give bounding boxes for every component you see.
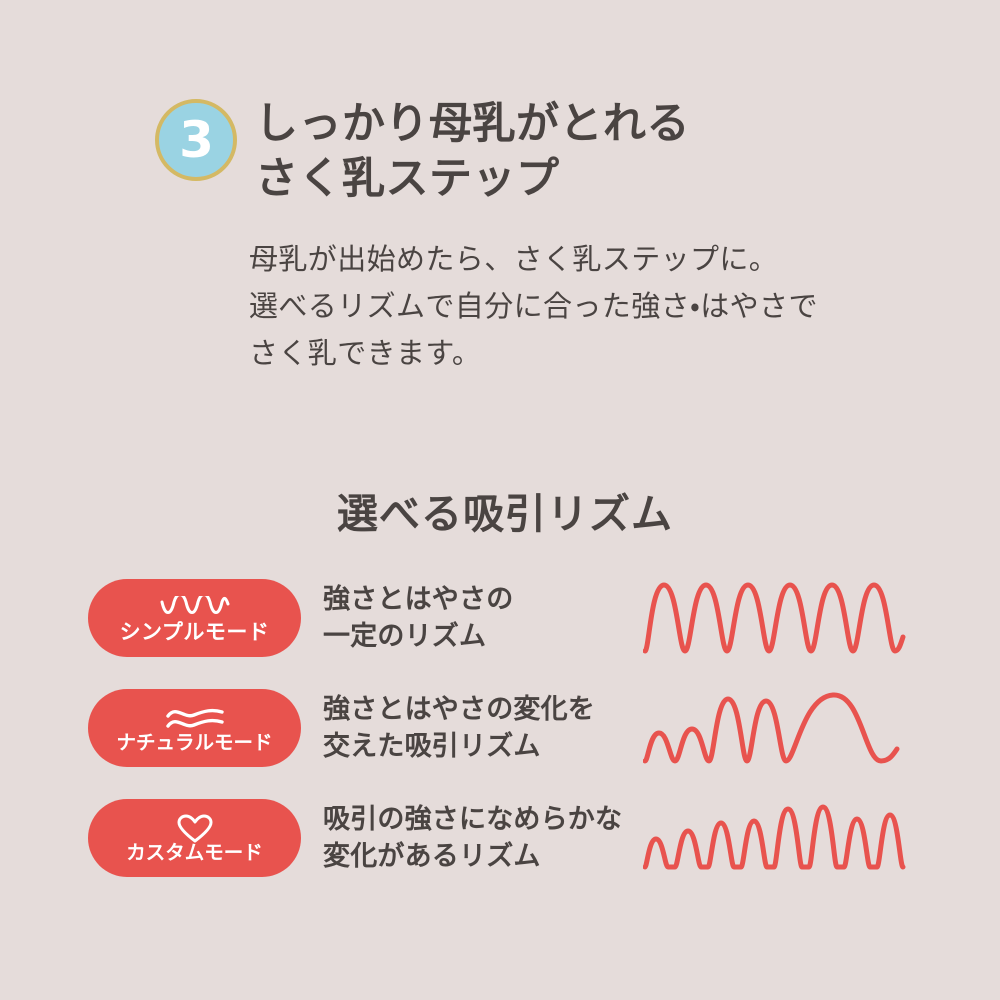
mode-desc-line-2: 一定のリズム — [323, 618, 643, 655]
step-number: 3 — [179, 115, 213, 165]
mode-pill-simple[interactable]: シンプルモード — [88, 579, 301, 657]
mode-pill-label: ナチュラルモード — [116, 733, 272, 753]
mode-description: 強さとはやさの 一定のリズム — [323, 581, 643, 656]
mode-description: 吸引の強さになめらかな 変化があるリズム — [323, 801, 643, 876]
mode-desc-line-1: 強さとはやさの変化を — [323, 691, 643, 728]
step-title: しっかり母乳がとれる さく乳ステップ — [255, 95, 690, 207]
mode-row: ナチュラルモード 強さとはやさの変化を 交えた吸引リズム — [0, 676, 1000, 780]
step-title-line-2: さく乳ステップ — [255, 152, 690, 207]
lead-line-3: さく乳できます。 — [249, 330, 818, 377]
mode-desc-line-2: 交えた吸引リズム — [323, 728, 643, 765]
step-header: 3 しっかり母乳がとれる さく乳ステップ — [155, 95, 690, 207]
mode-pill-natural[interactable]: ナチュラルモード — [88, 689, 301, 767]
mode-pill-label: カスタムモード — [126, 843, 263, 863]
waveform-varying-sine — [643, 683, 913, 773]
step-number-badge: 3 — [155, 99, 237, 181]
waveform-uniform-sine — [643, 573, 913, 663]
approx-wave-icon — [164, 706, 226, 732]
step-title-line-1: しっかり母乳がとれる — [255, 97, 690, 152]
mode-pill-custom[interactable]: カスタムモード — [88, 799, 301, 877]
lead-line-1: 母乳が出始めたら、さく乳ステップに。 — [249, 236, 818, 283]
mode-desc-line-1: 強さとはやさの — [323, 581, 643, 618]
mode-row: カスタムモード 吸引の強さになめらかな 変化があるリズム — [0, 786, 1000, 890]
rhythm-section: 選べる吸引リズム シンプルモード 強さとはやさの 一定のリズム — [0, 480, 1000, 896]
lead-paragraph: 母乳が出始めたら、さく乳ステップに。 選べるリズムで自分に合った強さ・はやさで … — [249, 236, 818, 377]
lead-line-2: 選べるリズムで自分に合った強さ・はやさで — [249, 283, 818, 330]
heart-icon — [177, 816, 213, 842]
mode-pill-label: シンプルモード — [120, 622, 270, 643]
waveform-flat-bottom-sine — [643, 793, 913, 883]
wave-icon — [160, 595, 230, 621]
mode-desc-line-2: 変化があるリズム — [323, 838, 643, 875]
mode-description: 強さとはやさの変化を 交えた吸引リズム — [323, 691, 643, 766]
mode-desc-line-1: 吸引の強さになめらかな — [323, 801, 643, 838]
mode-row: シンプルモード 強さとはやさの 一定のリズム — [0, 566, 1000, 670]
rhythm-heading: 選べる吸引リズム — [0, 480, 1000, 540]
